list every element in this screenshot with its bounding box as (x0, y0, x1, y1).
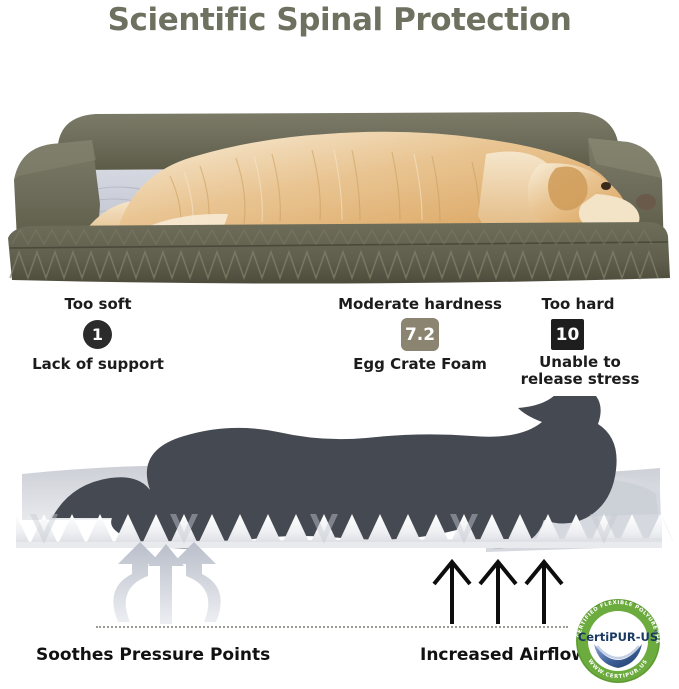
product-photo (0, 52, 679, 284)
infographic-page: Scientific Spinal Protection (0, 0, 679, 689)
certipur-us-seal: CONTAINS CERTIFIED FLEXIBLE POLYURETHANE… (568, 594, 668, 686)
page-title: Scientific Spinal Protection (0, 2, 679, 38)
scale-point-3-top-label: Too hard (506, 296, 650, 313)
hardness-scale: Too soft 1 Lack of support Moderate hard… (0, 292, 679, 392)
scale-point-1-bottom-label: Lack of support (8, 356, 188, 373)
increased-airflow-label: Increased Airflow (420, 645, 587, 665)
scale-point-3-bottom-line2: release stress (521, 370, 640, 388)
scale-point-3-bottom-line1: Unable to (539, 353, 621, 371)
scale-point-2-marker: 7.2 (401, 318, 439, 351)
scale-point-3-bottom-label: Unable to release stress (500, 354, 660, 388)
scale-point-2-bottom-label: Egg Crate Foam (330, 356, 510, 373)
pressure-point-arrows (113, 542, 220, 624)
scale-point-1-top-label: Too soft (18, 296, 178, 313)
seal-brand-text: CertiPUR-US (578, 630, 658, 644)
soothes-pressure-points-label: Soothes Pressure Points (36, 645, 270, 665)
airflow-arrows (434, 562, 562, 624)
scale-point-1-marker: 1 (83, 320, 112, 349)
seal-registered-mark: ® (654, 630, 659, 636)
scale-point-2-top-label: Moderate hardness (320, 296, 520, 313)
scale-point-3-marker: 10 (551, 319, 584, 350)
